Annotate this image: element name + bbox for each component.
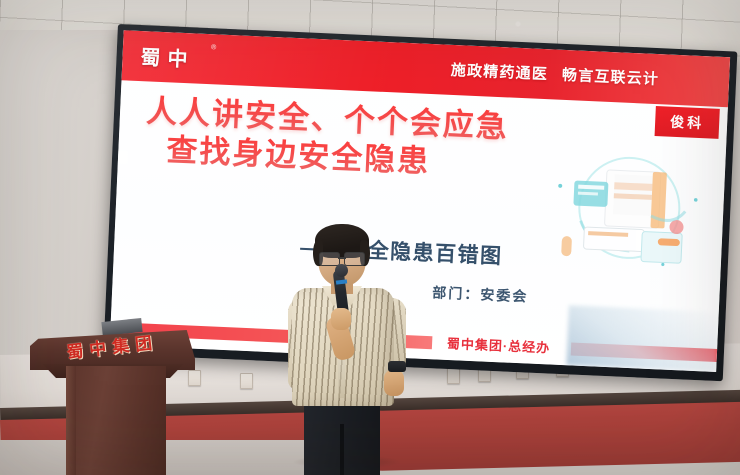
wrist-watch-icon — [388, 361, 406, 372]
slide-footer-text: 蜀中集团·总经办 — [447, 333, 551, 357]
eyeglasses-icon — [319, 252, 365, 264]
brand-badge-text: 俊科 — [670, 112, 705, 133]
slogan-left-text: 施政精药通医 — [450, 62, 548, 83]
display-panel: 蜀中 ® 施政精药通医畅言互联云计 俊科 — [110, 30, 730, 372]
slide-title-block: 人人讲安全、个个会应急 查找身边安全隐患 — [144, 93, 617, 188]
footer-bar-right-segment — [571, 342, 717, 361]
presentation-room-photo: 蜀中 ® 施政精药通医畅言互联云计 俊科 — [0, 0, 740, 475]
glasses-bridge — [338, 257, 346, 259]
wall-outlet — [447, 368, 460, 384]
speaker — [286, 228, 406, 475]
speaker-leg-separation — [340, 424, 344, 475]
presentation-slide: 蜀中 ® 施政精药通医畅言互联云计 俊科 — [110, 30, 730, 372]
speaker-hand-holding-mic — [331, 308, 351, 330]
screen-edge-highlight — [118, 150, 129, 164]
glasses-left-lens — [319, 252, 340, 266]
registered-trademark-icon: ® — [211, 44, 216, 51]
podium-body — [66, 366, 166, 475]
slogan-right-text: 畅言互联云计 — [562, 67, 660, 88]
led-display[interactable]: 蜀中 ® 施政精药通医畅言互联云计 俊科 — [103, 24, 737, 381]
microphone-head — [335, 264, 348, 277]
glasses-right-lens — [344, 252, 365, 266]
slide-department-label: 部门：安委会 — [432, 282, 529, 306]
podium-body-edge — [66, 366, 76, 475]
wall-outlet — [240, 373, 253, 389]
speaker-right-hand — [384, 370, 404, 396]
company-logo-text: 蜀中 — [140, 41, 195, 72]
podium: 蜀中集团 — [30, 330, 195, 475]
brand-badge: 俊科 — [655, 106, 720, 139]
